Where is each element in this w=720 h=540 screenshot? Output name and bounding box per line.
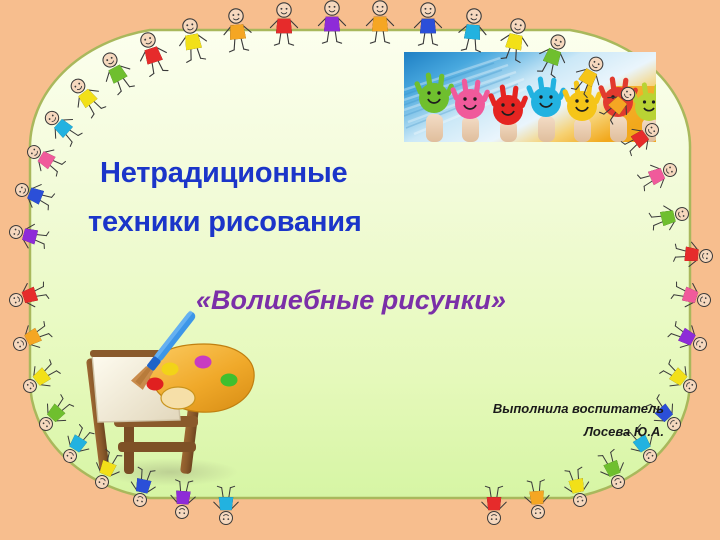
slide-title-line-2: техники рисования xyxy=(88,206,362,239)
slide-title-line-1: Нетрадиционные xyxy=(100,157,347,190)
slide-subtitle: «Волшебные рисунки» xyxy=(196,285,506,316)
easel-illustration xyxy=(62,300,292,500)
author-name: Лосева Ю.А. xyxy=(584,424,664,439)
presentation-slide: Нетрадиционные техники рисования «Волшеб… xyxy=(0,0,720,540)
author-role: Выполнила воспитатель xyxy=(493,401,664,416)
painted-hands-photo xyxy=(404,52,656,142)
